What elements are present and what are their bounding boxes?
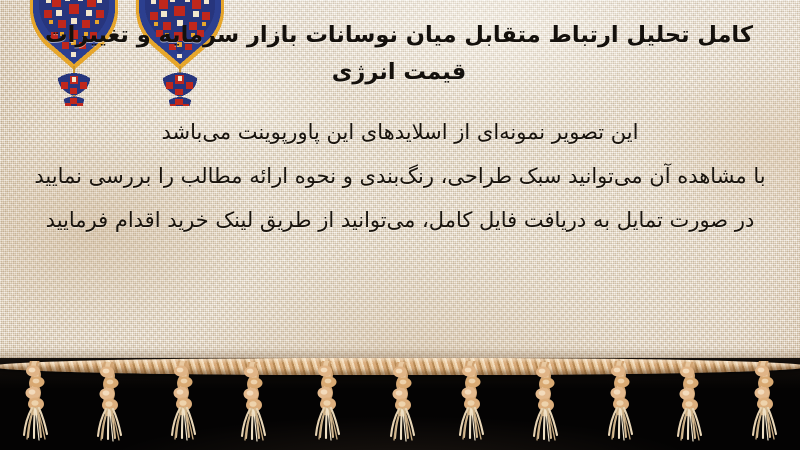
presentation-slide: کامل تحلیل ارتباط متقابل میان نوسانات با… <box>0 0 800 450</box>
tassel <box>603 361 637 441</box>
tassel <box>672 362 706 442</box>
tassel <box>92 362 126 442</box>
body-line: با مشاهده آن می‌توانید سبک طراحی، رنگ‌بن… <box>15 154 785 198</box>
tassel <box>747 361 781 441</box>
slide-body: این تصویر نمونه‌ای از اسلایدهای این پاور… <box>15 110 785 242</box>
slide-title: کامل تحلیل ارتباط متقابل میان نوسانات با… <box>10 17 788 91</box>
tassel <box>528 362 562 442</box>
tassel <box>310 361 344 441</box>
tassel <box>454 361 488 441</box>
tassel <box>385 362 419 442</box>
body-line: این تصویر نمونه‌ای از اسلایدهای این پاور… <box>15 110 785 154</box>
tassel <box>18 361 52 441</box>
tassel <box>236 362 270 442</box>
carpet-tassel-fringe <box>0 358 800 450</box>
tassel <box>166 361 200 441</box>
body-line: در صورت تمایل به دریافت فایل کامل، می‌تو… <box>15 198 785 242</box>
